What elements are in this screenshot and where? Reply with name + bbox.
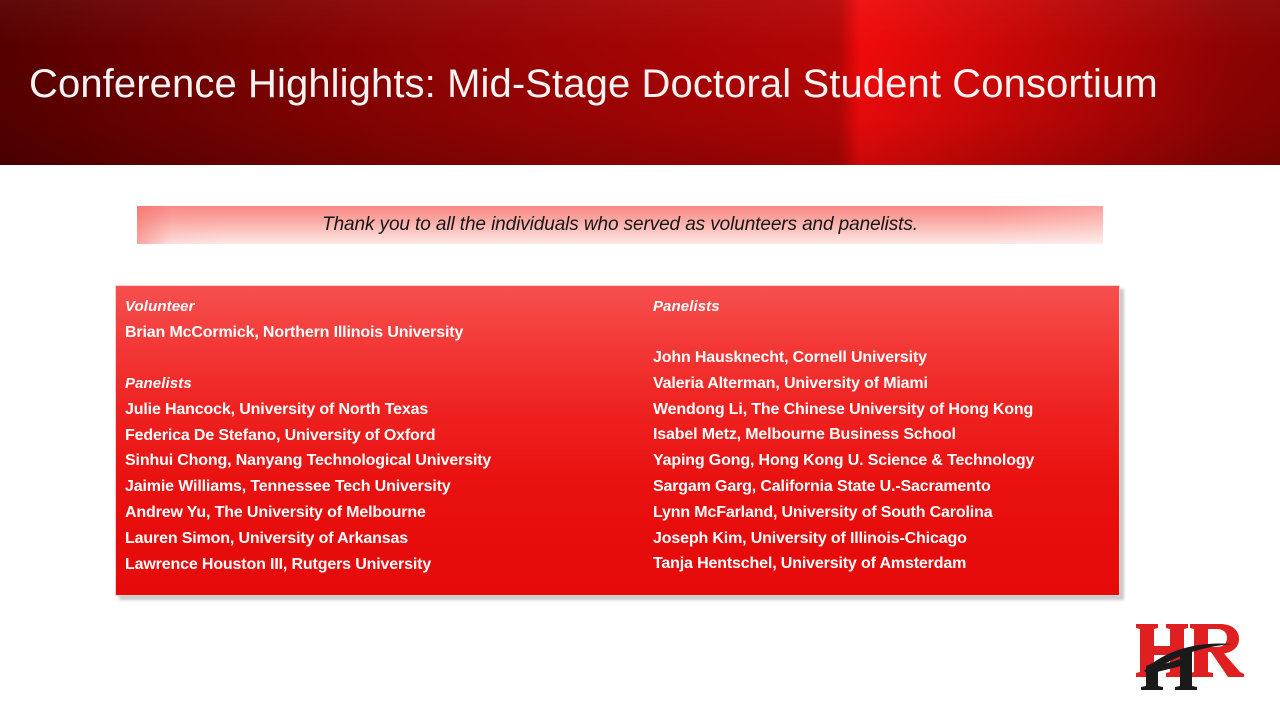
contributors-columns: Volunteer Brian McCormick, Northern Illi… xyxy=(116,286,1119,595)
contributors-panel: Volunteer Brian McCormick, Northern Illi… xyxy=(115,285,1120,596)
list-item: Yaping Gong, Hong Kong U. Science & Tech… xyxy=(653,448,1119,474)
list-item: Lawrence Houston III, Rutgers University xyxy=(125,552,642,578)
list-item: Brian McCormick, Northern Illinois Unive… xyxy=(125,320,642,346)
right-column: Panelists John Hausknecht, Cornell Unive… xyxy=(642,286,1119,595)
list-item: Isabel Metz, Melbourne Business School xyxy=(653,422,1119,448)
thank-you-banner: Thank you to all the individuals who ser… xyxy=(137,206,1103,244)
section-heading-panelists-left: Panelists xyxy=(125,371,642,397)
hr-logo xyxy=(1128,616,1246,694)
list-item: Lauren Simon, University of Arkansas xyxy=(125,526,642,552)
list-item: Valeria Alterman, University of Miami xyxy=(653,371,1119,397)
column-spacer xyxy=(125,346,642,371)
slide-title-bar: Conference Highlights: Mid-Stage Doctora… xyxy=(0,0,1280,165)
list-item: Joseph Kim, University of Illinois-Chica… xyxy=(653,526,1119,552)
thank-you-note: Thank you to all the individuals who ser… xyxy=(137,214,1103,236)
hr-logo-icon xyxy=(1128,616,1246,694)
list-item: Tanja Hentschel, University of Amsterdam xyxy=(653,551,1119,577)
list-item: Wendong Li, The Chinese University of Ho… xyxy=(653,397,1119,423)
list-item: Andrew Yu, The University of Melbourne xyxy=(125,500,642,526)
list-item: John Hausknecht, Cornell University xyxy=(653,345,1119,371)
section-heading-volunteer: Volunteer xyxy=(125,294,642,320)
list-item: Jaimie Williams, Tennessee Tech Universi… xyxy=(125,474,642,500)
list-item: Julie Hancock, University of North Texas xyxy=(125,397,642,423)
section-heading-panelists-right: Panelists xyxy=(653,294,1119,320)
page-title: Conference Highlights: Mid-Stage Doctora… xyxy=(29,56,1158,112)
list-item: Lynn McFarland, University of South Caro… xyxy=(653,500,1119,526)
list-item: Sinhui Chong, Nanyang Technological Univ… xyxy=(125,448,642,474)
list-item: Sargam Garg, California State U.-Sacrame… xyxy=(653,474,1119,500)
left-column: Volunteer Brian McCormick, Northern Illi… xyxy=(116,286,642,595)
list-item: Federica De Stefano, University of Oxfor… xyxy=(125,423,642,449)
column-spacer xyxy=(653,320,1119,345)
